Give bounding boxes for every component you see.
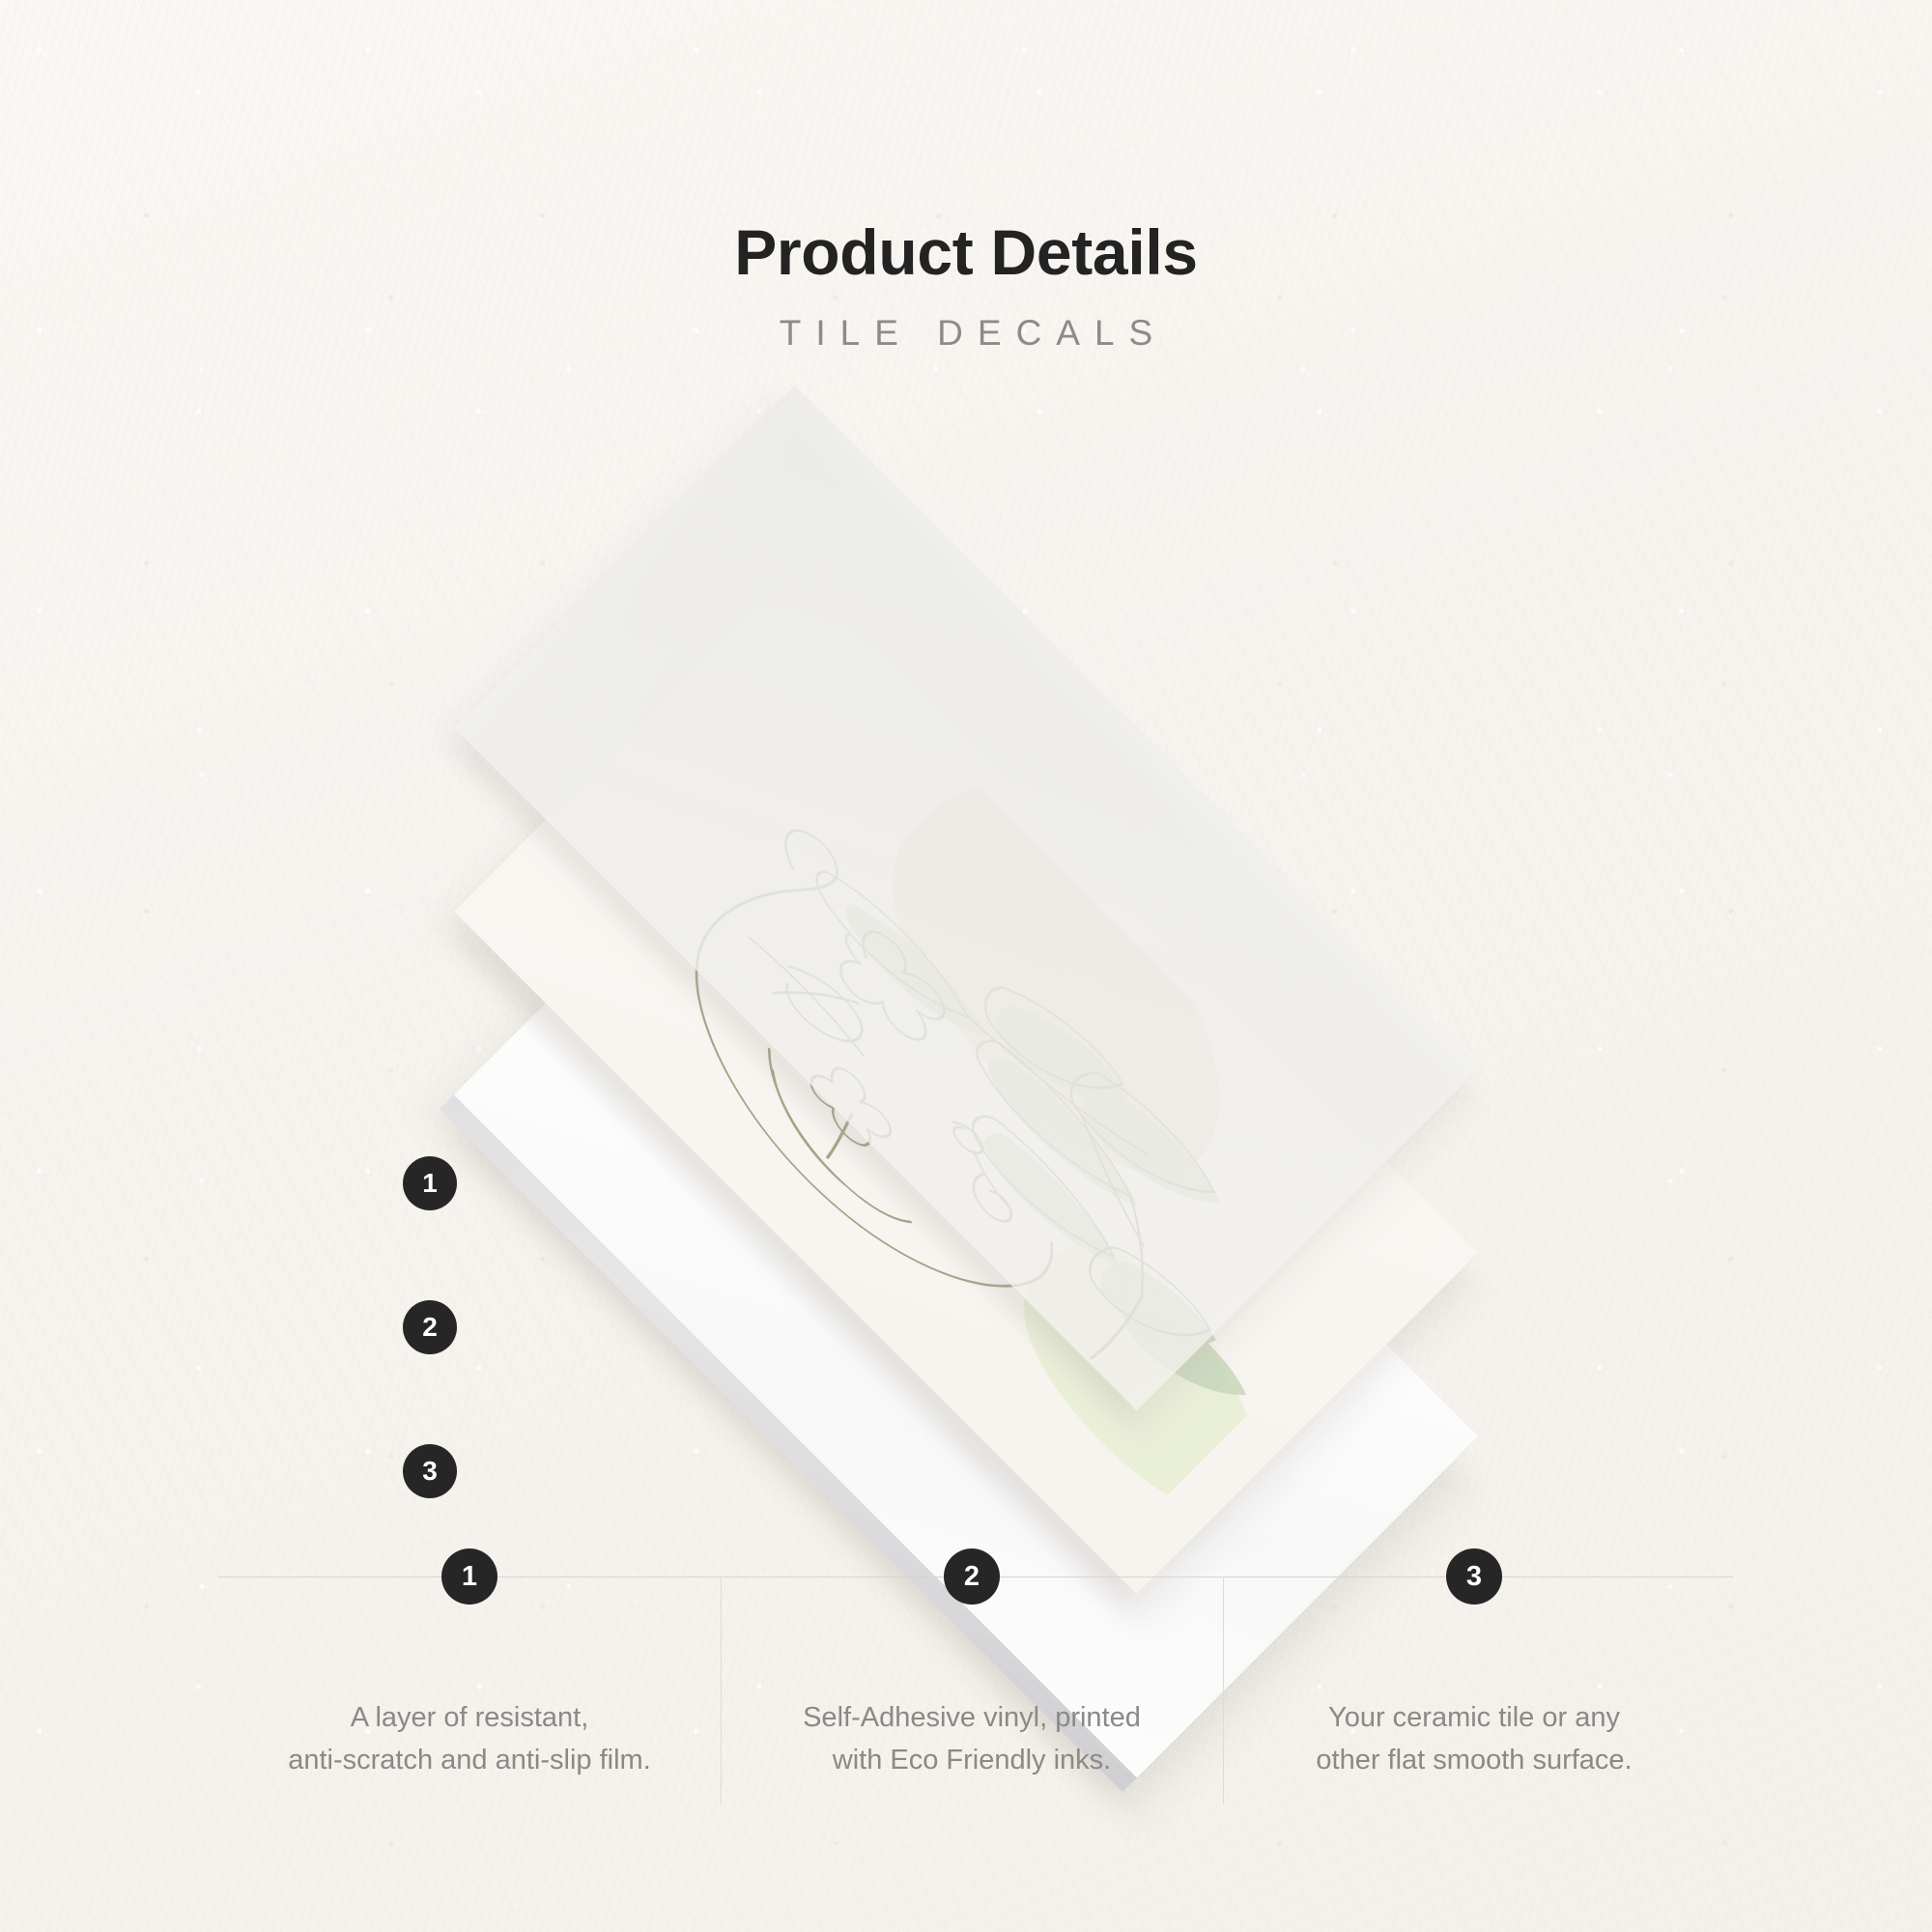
header: Product Details TILE DECALS [0,0,1932,351]
page-title: Product Details [0,0,1932,284]
footer-caption-2: Self-Adhesive vinyl, printed with Eco Fr… [721,1696,1223,1781]
footer-badge-2[interactable]: 2 [944,1548,1000,1605]
footer-caption-1: A layer of resistant, anti-scratch and a… [218,1696,721,1781]
footer-badge-3[interactable]: 3 [1446,1548,1502,1605]
stack-badge-1[interactable]: 1 [403,1156,457,1210]
footer-caption-3: Your ceramic tile or any other flat smoo… [1223,1696,1725,1781]
footer-badge-1[interactable]: 1 [441,1548,497,1605]
layer-1-protective-film[interactable] [483,415,1449,1381]
footer: 1 A layer of resistant, anti-scratch and… [0,1507,1932,1932]
page-subtitle: TILE DECALS [0,284,1932,351]
stack-badge-2[interactable]: 2 [403,1300,457,1354]
stack-badge-3[interactable]: 3 [403,1444,457,1498]
isometric-layer-stack: 1 2 3 [0,415,1932,1478]
